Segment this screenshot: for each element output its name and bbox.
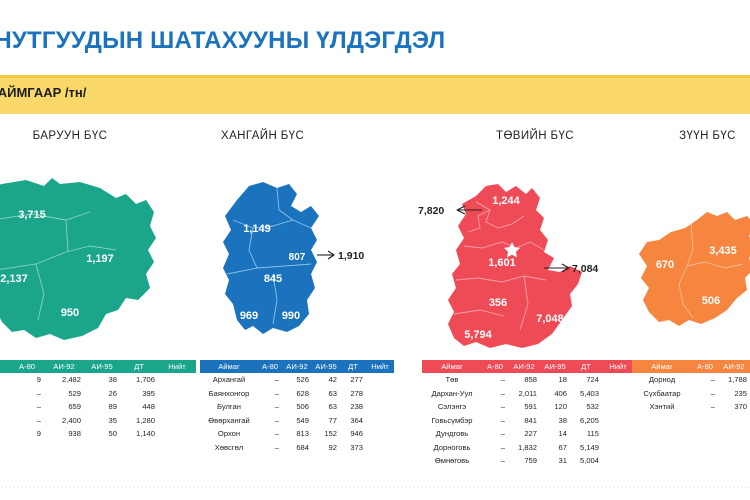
cell-total: 5,794 [602, 454, 634, 467]
cell-a80: – [482, 387, 508, 400]
col-aimag: Аймаг [422, 360, 482, 373]
col-niit: Нийт [602, 360, 634, 373]
cell-ai92: 7,008 [44, 441, 84, 454]
callout-label-darkhan-uul: 7,820 [418, 205, 444, 217]
map-toviin-bus: 1,244 1,601 356 7,048 5,794 7,820 7,084 [420, 154, 620, 359]
cell-a80: – [482, 468, 508, 481]
cell-a80: 9 [10, 427, 44, 440]
col-ai92: АИ-92 [282, 360, 312, 373]
cell-ai92: 2,482 [44, 373, 84, 386]
cell-dt: 724 [570, 373, 602, 386]
cell-aimag: Говьсүмбэр [422, 414, 482, 427]
cell-a80: – [258, 454, 282, 467]
map-label-ovorkhangai: 990 [282, 310, 300, 322]
cell-a80: – [10, 387, 44, 400]
cell-total: 356 [602, 427, 634, 440]
col-aimag: Аймаг [632, 360, 692, 373]
map-label-sukhbaatar: 506 [702, 295, 720, 307]
cell-aimag: н-Өлгий [0, 373, 10, 386]
cell-ai92: 526 [282, 373, 312, 386]
table-toviin-bus: Аймаг А-80 АИ-92 АИ-95 ДТ Нийт Төв – 858… [422, 360, 634, 481]
cell-a80: – [482, 441, 508, 454]
cell-ai92: 227 [508, 427, 540, 440]
cell-ai95: 50 [84, 427, 120, 440]
cell-aimag: ийт [0, 441, 10, 454]
cell-aimag: ь-Алтай [0, 387, 10, 400]
table-row: ь-Алтай – 529 26 395 950 [0, 387, 196, 400]
cell-ai92: 938 [44, 427, 84, 440]
cell-aimag: Сүхбаатар [632, 387, 692, 400]
cell-ai95: 42 [312, 373, 340, 386]
map-baruun-bus: 4,235 3,715 1,197 2,137 950 [0, 154, 200, 349]
cell-dt: 448 [120, 400, 158, 413]
table-row: Архангай – 526 42 277 845 [200, 373, 394, 386]
callout-orkhon: 1,910 [317, 250, 364, 262]
cell-ai95: 239 [84, 441, 120, 454]
cell-total: 4,235 [158, 373, 196, 386]
cell-ai92: 1,832 [508, 441, 540, 454]
cell-aimag: Булган [200, 400, 258, 413]
region-zuun-bus: ЗҮҮН БҮС 3,435 670 506 [635, 130, 750, 349]
cell-ai92: 235 [718, 387, 750, 400]
cell-total: 807 [366, 400, 394, 413]
table-row: Дархан-Уул – 2,011 406 5,403 7,820 [422, 387, 634, 400]
cell-ai95: 89 [84, 400, 120, 413]
cell-a80: – [482, 454, 508, 467]
table-total-row: Нийт – 3,705 490 2,475 6,671 [200, 454, 394, 467]
cell-aimag: Орхон [200, 427, 258, 440]
cell-ai95: 26 [84, 387, 120, 400]
map-label-bayankhongor: 969 [240, 310, 258, 322]
cell-dt: 5,149 [570, 441, 602, 454]
cell-ai92: 2,011 [508, 387, 540, 400]
cell-ai92: 659 [44, 400, 84, 413]
subtitle-text: УТАГ, АЙМГААР /тн/ [0, 85, 660, 100]
table-baruun-bus: Аймаг А-80 АИ-92 АИ-95 ДТ Нийт н-Өлгий 9… [0, 360, 196, 454]
table-row: Өвөрхангай – 549 77 364 990 [200, 414, 394, 427]
table-total-row: Нийт – 7,119 695 23,133 30,947 [422, 468, 634, 481]
cell-ai95: 63 [312, 387, 340, 400]
col-niit: Нийт [158, 360, 196, 373]
cell-dt: 1,140 [120, 427, 158, 440]
col-niit: Нийт [366, 360, 394, 373]
cell-dt: 532 [570, 400, 602, 413]
region-toviin-bus: ТӨВИЙН БҮС 1,244 [420, 130, 620, 359]
cell-dt: 23,133 [570, 468, 602, 481]
table-row: Булган – 506 63 238 807 [200, 400, 394, 413]
cell-a80: – [258, 427, 282, 440]
cell-ai95: 490 [312, 454, 340, 467]
page-title: С НУТГУУДЫН ШАТАХУУНЫ ҮЛДЭГДЭЛ [0, 27, 670, 55]
col-aimag: Аймаг [200, 360, 258, 373]
table-row: Хэнтий – 370 52 24 [632, 400, 750, 413]
table-row: н-Өлгий 9 2,482 38 1,706 4,235 [0, 373, 196, 386]
table-row: Дорноговь – 1,832 67 5,149 7,048 [422, 441, 634, 454]
cell-dt: 4,969 [120, 441, 158, 454]
cell-a80: – [258, 400, 282, 413]
cell-total: 7,048 [602, 441, 634, 454]
cell-dt: 395 [120, 387, 158, 400]
cell-total: 3,715 [158, 414, 196, 427]
cell-ai92: 7,119 [508, 468, 540, 481]
callout-label-govisumber: 7,084 [572, 263, 598, 275]
cell-ai95: 18 [540, 373, 570, 386]
cell-ai95: 120 [540, 400, 570, 413]
cell-aimag: Дундговь [422, 427, 482, 440]
table-row: овд 9 938 50 1,140 2,137 [0, 427, 196, 440]
col-ai95: АИ-95 [312, 360, 340, 373]
cell-total: 1,149 [366, 441, 394, 454]
cell-aimag: Увс [0, 414, 10, 427]
map-label-khovd: 2,137 [0, 273, 28, 285]
cell-total: 12,234 [158, 441, 196, 454]
table-header-row: Аймаг А-80 АИ-92 АИ-95 ДТ Нийт [0, 360, 196, 373]
table-header-row: Аймаг А-80 АИ-92 АИ-95 ДТ Нийт [632, 360, 750, 373]
cell-ai92: 370 [718, 400, 750, 413]
cell-dt: 6,205 [570, 414, 602, 427]
cell-total: 30,947 [602, 468, 634, 481]
cell-a80: – [692, 414, 718, 427]
cell-a80: – [258, 414, 282, 427]
cell-ai92: 858 [508, 373, 540, 386]
cell-ai92: 813 [282, 427, 312, 440]
table-header-row: Аймаг А-80 АИ-92 АИ-95 ДТ Нийт [422, 360, 634, 373]
cell-ai95: 152 [312, 427, 340, 440]
cell-ai95: 695 [540, 468, 570, 481]
cell-total: 845 [366, 373, 394, 386]
map-label-zavkhan: 1,197 [86, 253, 114, 265]
cell-aimag: Өмнөговь [422, 454, 482, 467]
cell-dt: 5,004 [570, 454, 602, 467]
cell-total: 7,820 [602, 387, 634, 400]
cell-total: 6,671 [366, 454, 394, 467]
cell-ai95: 92 [312, 441, 340, 454]
table-zuun-bus: Аймаг А-80 АИ-92 АИ-95 ДТ Нийт Дорнод – … [632, 360, 750, 427]
cell-a80: – [258, 373, 282, 386]
cell-ai92: 759 [508, 454, 540, 467]
map-label-dornod: 3,435 [709, 245, 737, 257]
cell-aimag: овд [0, 427, 10, 440]
cell-ai92: 684 [282, 441, 312, 454]
cell-ai92: 506 [282, 400, 312, 413]
cell-aimag: Өвөрхангай [200, 414, 258, 427]
cell-ai92: 628 [282, 387, 312, 400]
cell-total: 950 [158, 387, 196, 400]
col-ai95: АИ-95 [540, 360, 570, 373]
col-dt: ДТ [340, 360, 366, 373]
cell-ai92: 2,394 [718, 414, 750, 427]
table-khangain-bus: Аймаг А-80 АИ-92 АИ-95 ДТ Нийт Архангай … [200, 360, 394, 468]
region-title: БАРУУН БҮС [0, 130, 200, 142]
callout-label-orkhon: 1,910 [338, 250, 364, 262]
cell-aimag: Төв [422, 373, 482, 386]
cell-aimag: Сэлэнгэ [422, 400, 482, 413]
cell-dt: 946 [340, 427, 366, 440]
cell-dt: 238 [340, 400, 366, 413]
map-label-arkhangai: 845 [264, 273, 282, 285]
cell-ai92: 1,788 [718, 373, 750, 386]
map-label-omnogovi: 5,794 [464, 329, 492, 341]
cell-a80: – [482, 373, 508, 386]
cell-a80: – [692, 373, 718, 386]
cell-ai92: 529 [44, 387, 84, 400]
map-label-dundgovi: 356 [489, 297, 507, 309]
cell-aimag: авхан [0, 400, 10, 413]
col-a80: А-80 [258, 360, 282, 373]
region-title: ТӨВИЙН БҮС [420, 130, 620, 142]
table-total-row: ийт 18 7,008 239 4,969 12,234 [0, 441, 196, 454]
map-label-bulgan: 807 [289, 252, 306, 263]
cell-a80: – [10, 414, 44, 427]
cell-ai95: 77 [312, 414, 340, 427]
cell-aimag: Хэнтий [632, 400, 692, 413]
cell-dt: 277 [340, 373, 366, 386]
infographic-page: С НУТГУУДЫН ШАТАХУУНЫ ҮЛДЭГДЭЛ УТАГ, АЙМ… [0, 0, 750, 500]
map-label-khovsgol: 1,149 [243, 223, 271, 235]
cell-a80: 9 [10, 373, 44, 386]
region-khangain-bus: ХАНГАЙН БҮС 1,149 807 845 [215, 130, 385, 349]
cell-total: 990 [366, 414, 394, 427]
cell-a80: 18 [10, 441, 44, 454]
cell-ai92: 549 [282, 414, 312, 427]
table-row: Увс – 2,400 35 1,280 3,715 [0, 414, 196, 427]
table-row: Говьсүмбэр – 841 38 6,205 7,084 [422, 414, 634, 427]
cell-ai95: 38 [84, 373, 120, 386]
cell-ai92: 3,705 [282, 454, 312, 467]
table-row: Хөвсгөл – 684 92 373 1,149 [200, 441, 394, 454]
cell-dt: 278 [340, 387, 366, 400]
cell-ai95: 31 [540, 454, 570, 467]
cell-a80: – [482, 400, 508, 413]
cell-aimag: Нийт [422, 468, 482, 481]
cell-a80: – [692, 400, 718, 413]
map-label-dornogovi: 7,048 [536, 313, 564, 325]
col-ai92: АИ-92 [508, 360, 540, 373]
cell-aimag: Дорноговь [422, 441, 482, 454]
map-khangain-bus: 1,149 807 845 969 990 1,910 [215, 154, 385, 349]
cell-a80: – [692, 387, 718, 400]
cell-ai95: 14 [540, 427, 570, 440]
col-a80: А-80 [692, 360, 718, 373]
col-ai95: АИ-95 [84, 360, 120, 373]
cell-aimag: Архангай [200, 373, 258, 386]
cell-aimag: Хөвсгөл [200, 441, 258, 454]
cell-ai92: 841 [508, 414, 540, 427]
region-baruun-bus: БАРУУН БҮС 4,235 3,715 1,197 2,137 [0, 130, 200, 349]
cell-ai92: 2,400 [44, 414, 84, 427]
cell-ai95: 35 [84, 414, 120, 427]
table-row: Төв – 858 18 724 1,601 [422, 373, 634, 386]
cell-ai95: 63 [312, 400, 340, 413]
cell-aimag: Дархан-Уул [422, 387, 482, 400]
cell-aimag: Баянхонгор [200, 387, 258, 400]
cell-aimag: Нийт [200, 454, 258, 467]
cell-total: 1,244 [602, 400, 634, 413]
cell-a80: – [482, 414, 508, 427]
col-ai92: АИ-92 [718, 360, 750, 373]
map-label-selenge: 1,244 [492, 195, 520, 207]
cell-total: 1,910 [366, 427, 394, 440]
cell-ai95: 67 [540, 441, 570, 454]
cell-total: 969 [366, 387, 394, 400]
table-row: Дундговь – 227 14 115 356 [422, 427, 634, 440]
table-row: Сүхбаатар – 235 35 23 [632, 387, 750, 400]
cell-dt: 1,280 [120, 414, 158, 427]
cell-dt: 364 [340, 414, 366, 427]
col-dt: ДТ [570, 360, 602, 373]
cell-a80: – [10, 400, 44, 413]
table-row: Баянхонгор – 628 63 278 969 [200, 387, 394, 400]
map-zuun-bus: 3,435 670 506 [635, 154, 750, 349]
cell-total: 2,137 [158, 427, 196, 440]
page-edge-dotted-rule [0, 486, 750, 488]
table-row: Сэлэнгэ – 591 120 532 1,244 [422, 400, 634, 413]
region-title: ХАНГАЙН БҮС [215, 130, 385, 142]
cell-total: 1,197 [158, 400, 196, 413]
col-a80: А-80 [10, 360, 44, 373]
cell-total: 1,601 [602, 373, 634, 386]
map-label-tov: 1,601 [488, 257, 516, 269]
cell-dt: 2,475 [340, 454, 366, 467]
table-row: Орхон – 813 152 946 1,910 [200, 427, 394, 440]
table-row: авхан – 659 89 448 1,197 [0, 400, 196, 413]
map-label-uvs: 3,715 [18, 209, 46, 221]
table-row: Өмнөговь – 759 31 5,004 5,794 [422, 454, 634, 467]
table-row: Дорнод – 1,788 65 1,58 [632, 373, 750, 386]
cell-ai95: 406 [540, 387, 570, 400]
map-label-khentii: 670 [656, 259, 674, 271]
cell-dt: 5,403 [570, 387, 602, 400]
col-dt: ДТ [120, 360, 158, 373]
cell-dt: 1,706 [120, 373, 158, 386]
col-aimag: Аймаг [0, 360, 10, 373]
table-total-row: Нийт – 2,394 152 2,0 [632, 414, 750, 427]
table-header-row: Аймаг А-80 АИ-92 АИ-95 ДТ Нийт [200, 360, 394, 373]
cell-a80: – [482, 427, 508, 440]
cell-dt: 115 [570, 427, 602, 440]
cell-a80: – [258, 387, 282, 400]
region-title: ЗҮҮН БҮС [635, 130, 750, 142]
cell-aimag: Нийт [632, 414, 692, 427]
cell-a80: – [258, 441, 282, 454]
cell-total: 7,084 [602, 414, 634, 427]
col-a80: А-80 [482, 360, 508, 373]
cell-aimag: Дорнод [632, 373, 692, 386]
map-label-govi-altai: 950 [61, 307, 79, 319]
cell-ai92: 591 [508, 400, 540, 413]
cell-ai95: 38 [540, 414, 570, 427]
cell-dt: 373 [340, 441, 366, 454]
col-ai92: АИ-92 [44, 360, 84, 373]
